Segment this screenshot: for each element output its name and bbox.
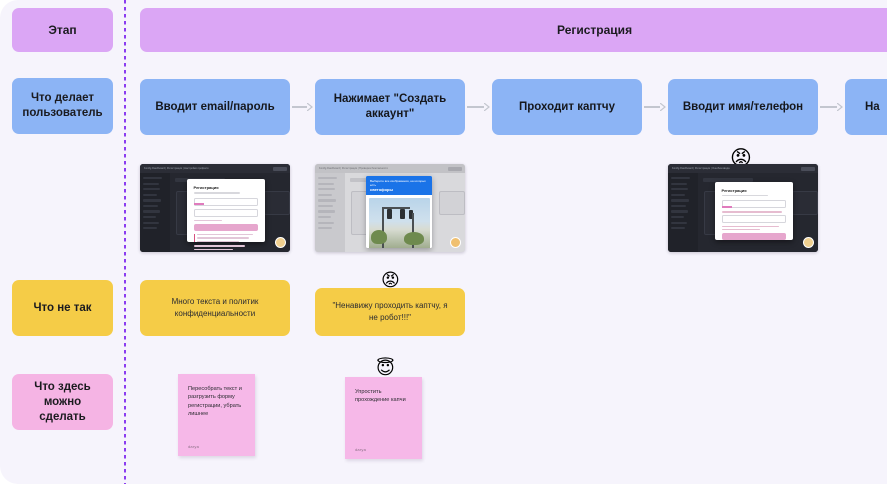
registration-modal-title: Регистрация: [194, 185, 258, 190]
flow-arrow-1: [292, 101, 313, 113]
window-controls: [801, 167, 815, 171]
step-card-email-label: Вводит email/пароль: [155, 100, 274, 115]
sticky-note-simplify-captcha-text: Упростить прохождение капчи: [355, 388, 412, 405]
recaptcha-challenge[interactable]: Выберите все изображения, на которых ест…: [366, 176, 432, 248]
window-controls: [448, 167, 462, 171]
row-label-stage[interactable]: Этап: [12, 8, 113, 52]
user-avatar: [450, 237, 461, 248]
registration-modal: Регистрация: [187, 179, 265, 242]
sticky-note-rebuild-form[interactable]: Пересобрать текст и разгрузить форму рег…: [178, 374, 255, 456]
flow-arrow-3: [644, 101, 666, 113]
screenshot-captcha[interactable]: Konfig Dashboard | Регистрация | Проверк…: [315, 164, 465, 252]
smiling-face-with-halo-emoji: 😇: [376, 360, 395, 378]
recaptcha-header: Выберите все изображения, на которых ест…: [366, 176, 432, 195]
screenshot-registration[interactable]: Konfig Dashboard | Регистрация | Настрой…: [140, 164, 290, 252]
board-corner-bottom-left: [0, 466, 18, 484]
pain-point-too-much-text-label: Много текста и политик конфиденциальност…: [152, 296, 278, 320]
pain-point-too-much-text[interactable]: Много текста и политик конфиденциальност…: [140, 280, 290, 336]
flow-arrow-2: [467, 101, 490, 113]
user-avatar: [803, 237, 814, 248]
registration-modal-title: Регистрация: [722, 188, 786, 193]
row-label-ideas[interactable]: Что здесь можно сделать: [12, 374, 113, 430]
step-card-create-account-label: Нажимает "Создать аккаунт": [325, 92, 455, 122]
pain-point-captcha[interactable]: "Ненавижу проходить каптчу, я не робот!!…: [315, 288, 465, 336]
stage-header-band[interactable]: Регистрация: [140, 8, 887, 52]
app-sidebar: [315, 173, 345, 252]
step-card-captcha[interactable]: Проходит каптчу: [492, 79, 642, 135]
sticky-note-rebuild-form-text: Пересобрать текст и разгрузить форму рег…: [188, 385, 245, 419]
screenshot-titlebar-text: Konfig Dashboard | Регистрация | Настрой…: [144, 167, 208, 170]
row-label-problems-text: Что не так: [33, 301, 91, 316]
screenshot-titlebar: Konfig Dashboard | Регистрация | Настрой…: [140, 164, 290, 173]
step-card-create-account[interactable]: Нажимает "Создать аккаунт": [315, 79, 465, 135]
screenshot-titlebar-text: Konfig Dashboard | Регистрация | Проверк…: [319, 167, 388, 170]
app-sidebar: [140, 173, 170, 252]
registration-submit-button: [722, 233, 786, 240]
board-corner-top-left: [0, 0, 18, 18]
recaptcha-image-grid[interactable]: [369, 198, 430, 249]
step-card-name-phone[interactable]: Вводит имя/телефон: [668, 79, 818, 135]
pain-point-captcha-label: "Ненавижу проходить каптчу, я не робот!!…: [327, 300, 453, 324]
window-controls: [273, 167, 287, 171]
screenshot-titlebar: Konfig Dashboard | Регистрация | Проверк…: [315, 164, 465, 173]
step-card-name-phone-label: Вводит имя/телефон: [683, 100, 803, 115]
column-divider: [124, 0, 126, 484]
registration-modal: Регистрация: [715, 182, 793, 240]
recaptcha-prompt-line2: светофоры: [370, 187, 428, 192]
user-avatar: [275, 237, 286, 248]
sticky-note-rebuild-form-author: darya: [188, 444, 199, 449]
sticky-note-simplify-captcha[interactable]: Упростить прохождение капчи darya: [345, 377, 422, 459]
journey-map-board: Этап Что делает пользователь Что не так …: [0, 0, 887, 484]
screenshot-registration-error[interactable]: Konfig Dashboard | Регистрация | Ошибка …: [668, 164, 818, 252]
row-label-user-action-text: Что делает пользователь: [20, 91, 105, 121]
stage-header-title: Регистрация: [557, 23, 632, 37]
row-label-stage-text: Этап: [48, 23, 76, 38]
flow-arrow-4: [820, 101, 843, 113]
row-label-problems[interactable]: Что не так: [12, 280, 113, 336]
row-label-user-action[interactable]: Что делает пользователь: [12, 78, 113, 134]
step-card-next-label: На: [865, 100, 880, 115]
recaptcha-prompt-line1: Выберите все изображения, на которых ест…: [370, 179, 428, 187]
step-card-email[interactable]: Вводит email/пароль: [140, 79, 290, 135]
registration-submit-button: [194, 224, 258, 231]
registration-policy-note: [194, 234, 258, 242]
row-label-ideas-text: Что здесь можно сделать: [20, 380, 105, 425]
sticky-note-simplify-captcha-author: darya: [355, 447, 366, 452]
screenshot-titlebar: Konfig Dashboard | Регистрация | Ошибка …: [668, 164, 818, 173]
screenshot-titlebar-text: Konfig Dashboard | Регистрация | Ошибка …: [672, 167, 730, 170]
app-sidebar: [668, 173, 698, 252]
step-card-captcha-label: Проходит каптчу: [519, 100, 615, 115]
step-card-next[interactable]: На: [845, 79, 887, 135]
